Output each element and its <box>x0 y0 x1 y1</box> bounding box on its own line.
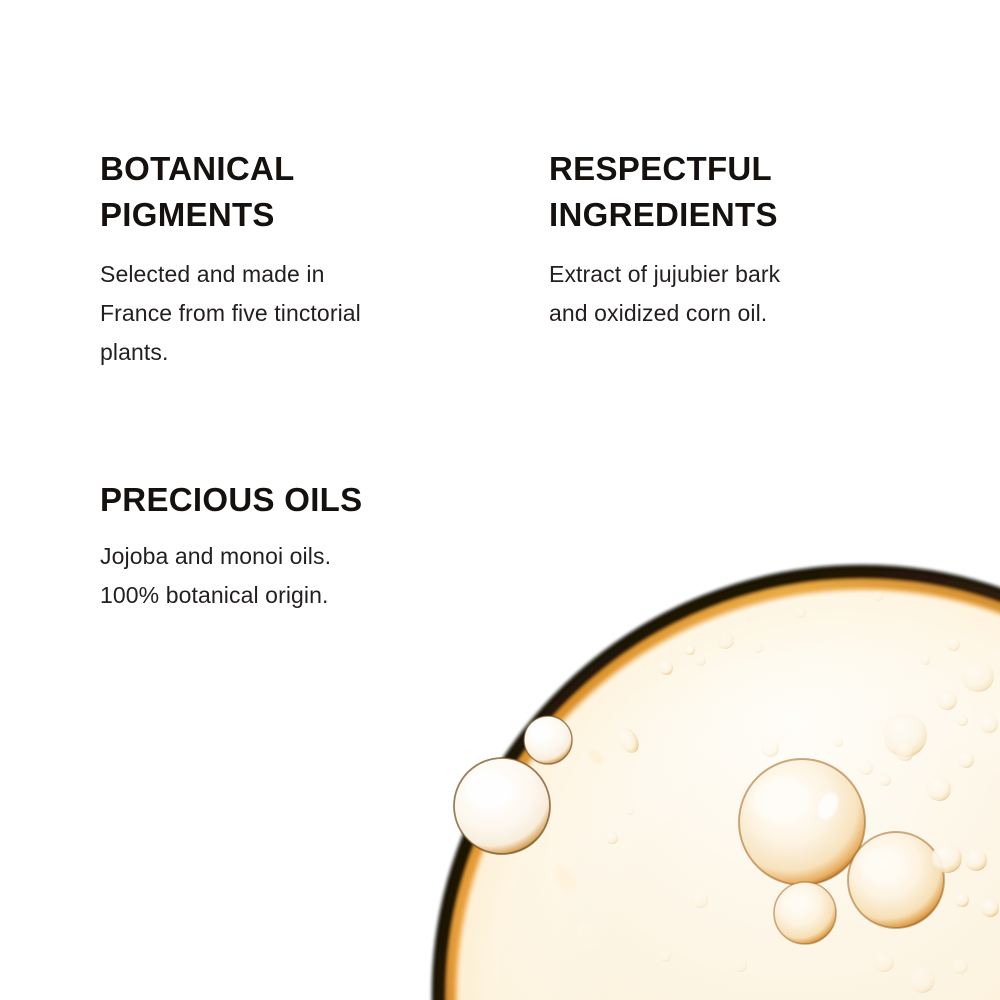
feature-body-respectful-ingredients: Extract of jujubier bark and oxidized co… <box>549 255 949 333</box>
bubble-medium-right <box>848 832 944 928</box>
rim-highlights <box>550 747 606 949</box>
bubble-small-lower <box>774 882 836 944</box>
feature-precious-oils: PRECIOUS OILS Jojoba and monoi oils. 100… <box>100 477 520 615</box>
product-feature-panel: BOTANICAL PIGMENTS Selected and made in … <box>0 0 1000 1000</box>
feature-title-respectful-ingredients: RESPECTFUL INGREDIENTS <box>549 146 949 237</box>
feature-body-botanical-pigments: Selected and made in France from five ti… <box>100 255 500 372</box>
droplet-rim <box>434 567 1000 1000</box>
droplet-inner-bubbles <box>606 591 999 993</box>
feature-botanical-pigments: BOTANICAL PIGMENTS Selected and made in … <box>100 146 500 372</box>
droplet-body <box>438 571 1000 1000</box>
feature-title-botanical-pigments: BOTANICAL PIGMENTS <box>100 146 500 237</box>
bubble-large <box>739 759 865 885</box>
feature-title-precious-oils: PRECIOUS OILS <box>100 477 520 523</box>
feature-respectful-ingredients: RESPECTFUL INGREDIENTS Extract of jujubi… <box>549 146 949 333</box>
rim-inner-droplets <box>606 645 695 844</box>
bubble-outside-small <box>524 716 572 764</box>
bubble-cluster-small <box>625 591 999 993</box>
feature-body-precious-oils: Jojoba and monoi oils. 100% botanical or… <box>100 537 520 615</box>
bubble-outside-large <box>454 758 550 854</box>
